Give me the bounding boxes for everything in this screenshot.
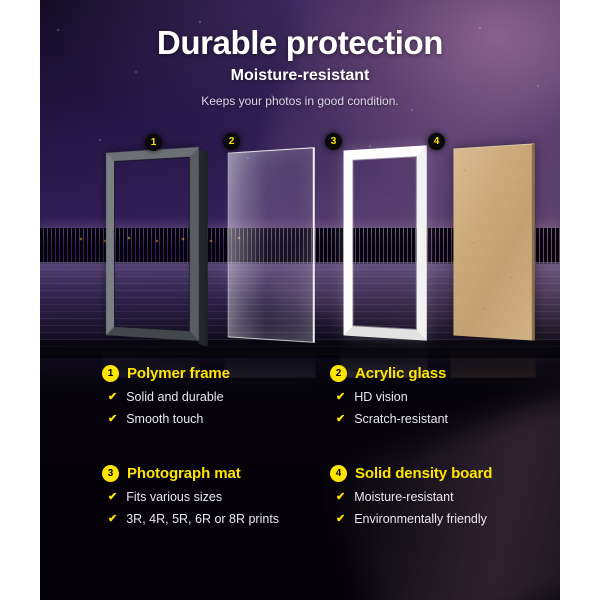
mat-window-opening	[353, 156, 417, 330]
layer-solid-density-board	[453, 143, 534, 340]
page-description: Keeps your photos in good condition.	[40, 94, 560, 108]
list-item: ✔ Environmentally friendly	[336, 512, 560, 527]
feature-title-4: Solid density board	[355, 465, 492, 482]
feature-badge-2: 2	[330, 365, 347, 382]
list-item: ✔ Smooth touch	[108, 412, 334, 427]
bullet-text: HD vision	[354, 390, 408, 405]
list-item: ✔ Fits various sizes	[108, 490, 334, 505]
feature-bullets-4: ✔ Moisture-resistant ✔ Environmentally f…	[330, 490, 560, 527]
feature-list: 1 Polymer frame ✔ Solid and durable ✔ Sm…	[40, 365, 560, 565]
frame-side-edge	[199, 150, 208, 347]
list-item: ✔ Solid and durable	[108, 390, 334, 405]
feature-heading: 2 Acrylic glass	[330, 365, 560, 382]
feature-bullets-3: ✔ Fits various sizes ✔ 3R, 4R, 5R, 6R or…	[102, 490, 334, 527]
product-infographic: Durable protection Moisture-resistant Ke…	[0, 0, 600, 600]
check-icon: ✔	[336, 512, 345, 527]
mdf-board-face	[453, 143, 534, 340]
feature-badge-4: 4	[330, 465, 347, 482]
bullet-text: Scratch-resistant	[354, 412, 448, 427]
check-icon: ✔	[108, 490, 117, 505]
bullet-text: Environmentally friendly	[354, 512, 487, 527]
bullet-text: 3R, 4R, 5R, 6R or 8R prints	[126, 512, 279, 527]
glass-sheen	[229, 151, 267, 339]
feature-acrylic-glass: 2 Acrylic glass ✔ HD vision ✔ Scratch-re…	[330, 365, 560, 434]
list-item: ✔ HD vision	[336, 390, 560, 405]
bullet-text: Fits various sizes	[126, 490, 222, 505]
feature-badge-1: 1	[102, 365, 119, 382]
check-icon: ✔	[108, 390, 117, 405]
feature-bullets-1: ✔ Solid and durable ✔ Smooth touch	[102, 390, 334, 427]
layer-acrylic-glass	[228, 147, 315, 343]
check-icon: ✔	[336, 490, 345, 505]
list-item: ✔ Scratch-resistant	[336, 412, 560, 427]
feature-polymer-frame: 1 Polymer frame ✔ Solid and durable ✔ Sm…	[102, 365, 334, 434]
list-item: ✔ 3R, 4R, 5R, 6R or 8R prints	[108, 512, 334, 527]
list-item: ✔ Moisture-resistant	[336, 490, 560, 505]
check-icon: ✔	[108, 412, 117, 427]
feature-heading: 1 Polymer frame	[102, 365, 334, 382]
feature-heading: 3 Photograph mat	[102, 465, 334, 482]
feature-badge-3: 3	[102, 465, 119, 482]
feature-solid-density-board: 4 Solid density board ✔ Moisture-resista…	[330, 465, 560, 534]
page-title: Durable protection	[40, 24, 560, 62]
feature-bullets-2: ✔ HD vision ✔ Scratch-resistant	[330, 390, 560, 427]
bullet-text: Moisture-resistant	[354, 490, 453, 505]
photo-canvas: Durable protection Moisture-resistant Ke…	[40, 0, 560, 600]
feature-photograph-mat: 3 Photograph mat ✔ Fits various sizes ✔ …	[102, 465, 334, 534]
layer-polymer-frame	[106, 147, 199, 341]
glass-pane	[228, 147, 315, 343]
layer-photograph-mat	[344, 145, 427, 340]
feature-title-3: Photograph mat	[127, 465, 241, 482]
bullet-text: Solid and durable	[126, 390, 223, 405]
diagram-marker-2: 2	[223, 133, 240, 150]
feature-title-2: Acrylic glass	[355, 365, 446, 382]
diagram-marker-3: 3	[325, 133, 342, 150]
diagram-marker-1: 1	[145, 134, 162, 151]
feature-title-1: Polymer frame	[127, 365, 230, 382]
check-icon: ✔	[336, 412, 345, 427]
check-icon: ✔	[108, 512, 117, 527]
header-block: Durable protection Moisture-resistant Ke…	[40, 0, 560, 108]
feature-heading: 4 Solid density board	[330, 465, 560, 482]
frame-inner-rabbet	[114, 157, 190, 331]
bullet-text: Smooth touch	[126, 412, 203, 427]
check-icon: ✔	[336, 390, 345, 405]
page-subtitle: Moisture-resistant	[40, 67, 560, 85]
diagram-marker-4: 4	[428, 133, 445, 150]
